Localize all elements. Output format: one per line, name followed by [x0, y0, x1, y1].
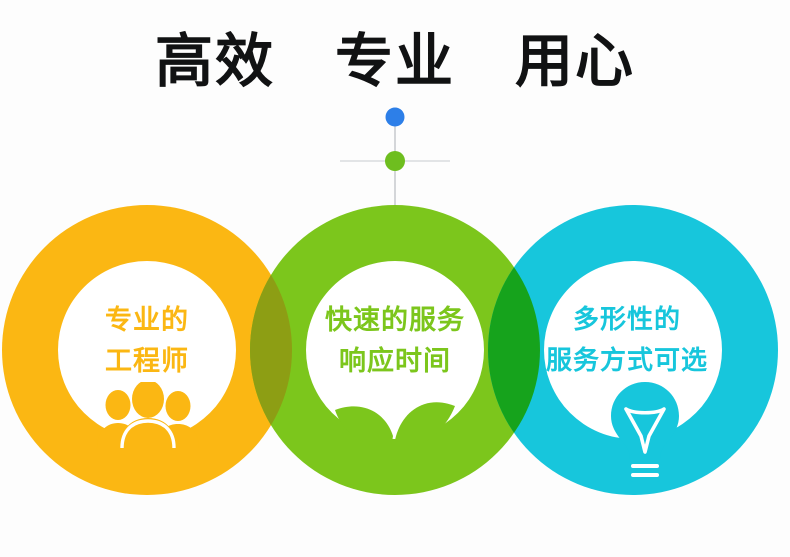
poster-canvas: 高效 专业 用心	[0, 0, 790, 557]
circle-orange-label: 专业的 工程师	[2, 300, 292, 382]
page-title: 高效 专业 用心	[0, 26, 790, 96]
blue-dot-icon	[386, 108, 405, 127]
green-dot-icon	[385, 151, 405, 171]
circle-cyan-label: 多形性的 服务方式可选	[482, 300, 772, 382]
sprout-leaf-icon	[325, 378, 465, 486]
lightbulb-icon	[603, 378, 687, 482]
people-icon	[95, 382, 201, 448]
